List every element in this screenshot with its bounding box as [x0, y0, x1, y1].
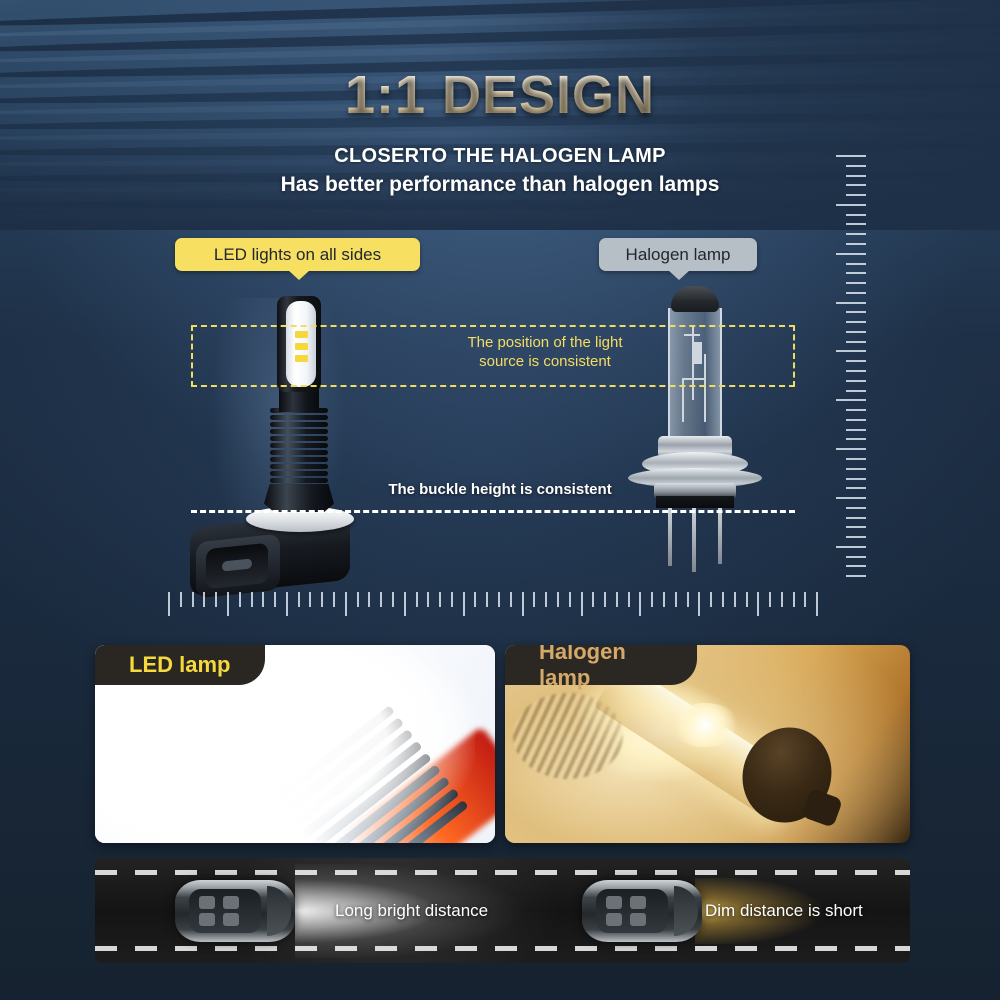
car-top-view-led: [175, 880, 295, 942]
halogen-black-tip: [671, 286, 719, 312]
ruler-tick: [734, 592, 736, 607]
vertical-ruler: [820, 155, 866, 585]
ruler-tick: [846, 175, 866, 177]
ruler-tick: [846, 526, 866, 528]
heatsink-fin: [270, 471, 328, 476]
led-card-label: LED lamp: [129, 652, 230, 678]
heatsink-fin: [270, 478, 328, 483]
halogen-card-label: Halogen lamp: [539, 645, 671, 691]
halogen-contact-pin: [692, 508, 696, 572]
ruler-tick: [215, 592, 217, 607]
ruler-tick: [298, 592, 300, 607]
car-seat: [199, 913, 215, 926]
ruler-tick: [498, 592, 500, 607]
ruler-tick: [846, 292, 866, 294]
ruler-tick: [846, 165, 866, 167]
ruler-tick: [392, 592, 394, 607]
led-bulb-heatsink-fins: [270, 408, 328, 486]
ruler-tick: [846, 194, 866, 196]
ruler-tick: [793, 592, 795, 607]
ruler-tick: [746, 592, 748, 607]
ruler-tick: [675, 592, 677, 607]
ruler-tick: [569, 592, 571, 607]
ruler-tick: [846, 409, 866, 411]
ruler-tick: [427, 592, 429, 607]
ruler-tick: [836, 155, 866, 157]
ruler-tick: [846, 184, 866, 186]
ruler-tick: [698, 592, 700, 616]
ruler-tick: [846, 360, 866, 362]
ruler-tick: [846, 575, 866, 577]
halogen-contact-pin: [718, 508, 722, 564]
ruler-tick: [416, 592, 418, 607]
callout-halogen-lamp: Halogen lamp: [599, 238, 757, 271]
product-infographic: 1:1 DESIGN CLOSERTO THE HALOGEN LAMP Has…: [0, 0, 1000, 1000]
ruler-tick: [710, 592, 712, 607]
ruler-tick: [846, 419, 866, 421]
ruler-tick: [722, 592, 724, 607]
halogen-comparison-card: Halogen lamp: [505, 645, 910, 843]
car-top-view-halogen: [582, 880, 702, 942]
ruler-tick: [687, 592, 689, 607]
ruler-tick: [781, 592, 783, 607]
ruler-tick: [663, 592, 665, 607]
callout-led-lights: LED lights on all sides: [175, 238, 420, 271]
ruler-tick: [451, 592, 453, 607]
heatsink-fin: [270, 464, 328, 469]
ruler-tick: [836, 253, 866, 255]
ruler-tick: [816, 592, 818, 616]
led-beam-label: Long bright distance: [335, 901, 488, 921]
heatsink-fin: [270, 450, 328, 455]
ruler-tick: [846, 233, 866, 235]
ruler-tick: [846, 478, 866, 480]
ruler-tick: [192, 592, 194, 607]
ruler-tick: [474, 592, 476, 607]
heatsink-fin: [270, 443, 328, 448]
ruler-tick: [836, 497, 866, 499]
halogen-card-ribbon: Halogen lamp: [505, 645, 697, 685]
ruler-tick: [203, 592, 205, 607]
ruler-tick: [309, 592, 311, 607]
ruler-tick: [836, 448, 866, 450]
car-seat: [630, 896, 646, 909]
ruler-tick: [404, 592, 406, 616]
halogen-contact-pin: [668, 508, 672, 566]
ruler-tick: [836, 546, 866, 548]
led-bulb-collar: [264, 484, 334, 512]
halogen-beam-label: Dim distance is short: [705, 901, 863, 921]
ruler-tick: [846, 243, 866, 245]
ruler-tick: [557, 592, 559, 607]
ruler-tick: [846, 341, 866, 343]
ruler-tick: [639, 592, 641, 616]
heatsink-fin: [270, 422, 328, 427]
light-source-note: The position of the light source is cons…: [420, 333, 670, 371]
ruler-tick: [368, 592, 370, 607]
ruler-tick: [846, 321, 866, 323]
ruler-tick: [804, 592, 806, 607]
ruler-tick: [846, 517, 866, 519]
ruler-tick: [846, 429, 866, 431]
halogen-photo-hotspot: [670, 703, 740, 747]
ruler-tick: [357, 592, 359, 607]
ruler-tick: [846, 556, 866, 558]
heatsink-fin: [270, 436, 328, 441]
buckle-height-line: [191, 510, 795, 513]
ruler-tick: [380, 592, 382, 607]
ruler-tick: [651, 592, 653, 607]
ruler-tick: [846, 565, 866, 567]
car-seat: [223, 913, 239, 926]
ruler-tick: [846, 272, 866, 274]
ruler-tick: [581, 592, 583, 616]
ruler-tick: [522, 592, 524, 616]
light-source-note-line-2: source is consistent: [420, 352, 670, 371]
beam-distance-strip: Long bright distance Dim distance is sho…: [95, 858, 910, 963]
ruler-tick: [486, 592, 488, 607]
car-seat: [606, 896, 622, 909]
ruler-tick: [533, 592, 535, 607]
ruler-tick: [846, 468, 866, 470]
callout-halogen-label: Halogen lamp: [626, 245, 731, 265]
ruler-tick: [616, 592, 618, 607]
car-seat: [630, 913, 646, 926]
light-source-note-line-1: The position of the light: [420, 333, 670, 352]
ruler-tick: [846, 487, 866, 489]
car-seat: [606, 913, 622, 926]
ruler-tick: [846, 390, 866, 392]
ruler-tick: [628, 592, 630, 607]
ruler-tick: [846, 536, 866, 538]
horizontal-ruler: [168, 592, 828, 618]
led-card-ribbon: LED lamp: [95, 645, 265, 685]
ruler-tick: [846, 380, 866, 382]
ruler-tick: [439, 592, 441, 607]
ruler-tick: [846, 438, 866, 440]
heatsink-fin: [270, 457, 328, 462]
ruler-tick: [836, 302, 866, 304]
callout-led-label: LED lights on all sides: [214, 245, 381, 265]
ruler-tick: [846, 311, 866, 313]
ruler-tick: [846, 214, 866, 216]
buckle-height-note: The buckle height is consistent: [380, 481, 620, 498]
led-comparison-card: LED lamp: [95, 645, 495, 843]
ruler-tick: [463, 592, 465, 616]
ruler-tick: [286, 592, 288, 616]
ruler-tick: [180, 592, 182, 607]
ruler-tick: [769, 592, 771, 607]
ruler-tick: [846, 507, 866, 509]
ruler-tick: [251, 592, 253, 607]
ruler-tick: [846, 458, 866, 460]
ruler-tick: [345, 592, 347, 616]
car-seat: [223, 896, 239, 909]
ruler-tick: [274, 592, 276, 607]
ruler-tick: [239, 592, 241, 607]
ruler-tick: [836, 399, 866, 401]
ruler-tick: [846, 331, 866, 333]
ruler-tick: [321, 592, 323, 607]
ruler-tick: [545, 592, 547, 607]
ruler-tick: [757, 592, 759, 616]
car-seat: [199, 896, 215, 909]
heatsink-fin: [270, 415, 328, 420]
ruler-tick: [604, 592, 606, 607]
heatsink-fin: [270, 429, 328, 434]
ruler-tick: [510, 592, 512, 607]
halogen-base-band: [656, 496, 734, 508]
ruler-tick: [592, 592, 594, 607]
ruler-tick: [846, 282, 866, 284]
ruler-tick: [836, 204, 866, 206]
ruler-tick: [168, 592, 170, 616]
ruler-tick: [836, 350, 866, 352]
ruler-tick: [846, 263, 866, 265]
ruler-tick: [846, 223, 866, 225]
ruler-tick: [846, 370, 866, 372]
ruler-tick: [227, 592, 229, 616]
ruler-tick: [333, 592, 335, 607]
page-title: 1:1 DESIGN: [0, 64, 1000, 126]
ruler-tick: [262, 592, 264, 607]
